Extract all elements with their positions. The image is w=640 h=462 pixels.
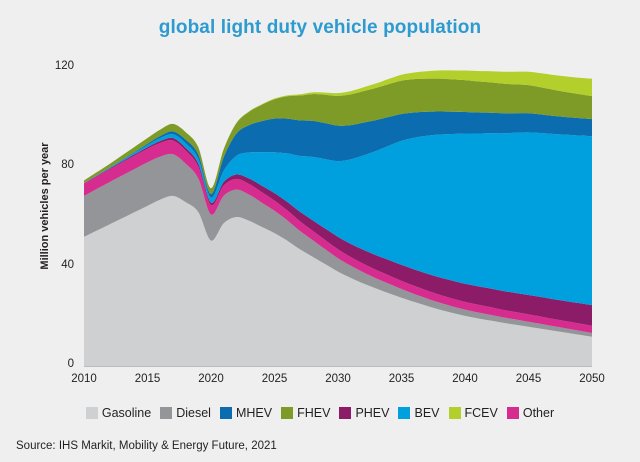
legend-item-gasoline[interactable]: Gasoline <box>86 406 151 420</box>
x-tick-2010: 2010 <box>61 373 107 385</box>
legend-swatch-icon <box>86 407 98 419</box>
legend-item-label: FCEV <box>465 406 498 420</box>
legend-item-fcev[interactable]: FCEV <box>449 406 498 420</box>
x-tick-2045: 2045 <box>506 373 552 385</box>
legend-item-diesel[interactable]: Diesel <box>160 406 211 420</box>
legend-item-label: Diesel <box>176 406 211 420</box>
area-chart-svg <box>0 0 640 400</box>
x-tick-2020: 2020 <box>188 373 234 385</box>
legend-item-other[interactable]: Other <box>507 406 554 420</box>
legend-item-label: Gasoline <box>102 406 151 420</box>
x-tick-2050: 2050 <box>569 373 615 385</box>
plot-area: 04080120 2010201520202025203020352040204… <box>0 0 640 400</box>
x-tick-2040: 2040 <box>442 373 488 385</box>
legend-swatch-icon <box>220 407 232 419</box>
legend-item-label: MHEV <box>236 406 272 420</box>
legend-item-fhev[interactable]: FHEV <box>281 406 330 420</box>
source-note: Source: IHS Markit, Mobility & Energy Fu… <box>16 440 277 452</box>
y-tick-120: 120 <box>40 60 74 72</box>
legend-item-phev[interactable]: PHEV <box>339 406 389 420</box>
legend-item-label: PHEV <box>355 406 389 420</box>
legend-swatch-icon <box>449 407 461 419</box>
legend-item-label: BEV <box>414 406 439 420</box>
legend-swatch-icon <box>507 407 519 419</box>
x-tick-2025: 2025 <box>252 373 298 385</box>
legend-swatch-icon <box>339 407 351 419</box>
y-tick-0: 0 <box>40 358 74 370</box>
legend-item-mhev[interactable]: MHEV <box>220 406 272 420</box>
x-tick-2030: 2030 <box>315 373 361 385</box>
legend-swatch-icon <box>398 407 410 419</box>
legend-swatch-icon <box>160 407 172 419</box>
chart-legend: GasolineDieselMHEVFHEVPHEVBEVFCEVOther <box>0 406 640 420</box>
legend-item-label: FHEV <box>297 406 330 420</box>
x-tick-2035: 2035 <box>379 373 425 385</box>
y-axis-title: Million vehicles per year <box>39 116 51 296</box>
legend-swatch-icon <box>281 407 293 419</box>
x-tick-2015: 2015 <box>125 373 171 385</box>
stacked-areas <box>84 70 592 366</box>
legend-item-bev[interactable]: BEV <box>398 406 439 420</box>
chart-page: global light duty vehicle population 040… <box>0 0 640 462</box>
legend-item-label: Other <box>523 406 554 420</box>
